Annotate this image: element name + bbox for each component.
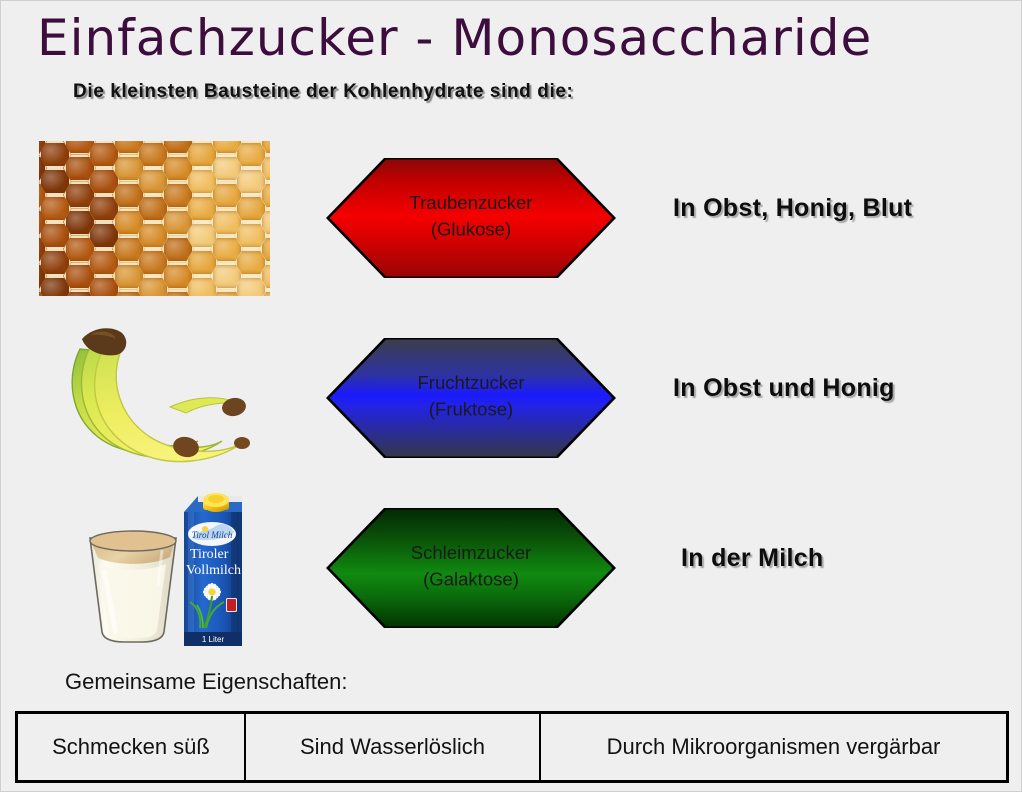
hexagon-fructose[interactable]: Fruchtzucker (Fruktose) xyxy=(326,338,616,458)
bananas-icon xyxy=(46,321,261,471)
side-label-galactose: In der Milch xyxy=(681,544,824,573)
page-title: Einfachzucker - Monosaccharide xyxy=(37,9,872,67)
hexagon-title-glucose: Traubenzucker xyxy=(410,194,533,214)
bananas-photo xyxy=(46,321,261,471)
carton-logo-text: Tirol Milch xyxy=(192,530,233,540)
hexagon-label-glucose: Traubenzucker (Glukose) xyxy=(410,192,533,245)
hexagon-glucose[interactable]: Traubenzucker (Glukose) xyxy=(326,158,616,278)
property-cell: Durch Mikroorganismen vergärbar xyxy=(541,714,1006,780)
milk-glass-and-carton-icon: Tirol Milch Tiroler Vollmilch xyxy=(66,486,256,651)
page-subtitle: Die kleinsten Bausteine der Kohlenhydrat… xyxy=(73,81,573,103)
property-cell: Schmecken süß xyxy=(18,714,246,780)
honeycomb-photo xyxy=(39,141,270,296)
properties-table: Schmecken süß Sind Wasserlöslich Durch M… xyxy=(15,711,1009,783)
hexagon-subtitle-glucose: (Glukose) xyxy=(410,218,533,244)
honeycomb-cells xyxy=(39,141,270,296)
carton-line1: Tiroler xyxy=(190,547,229,562)
properties-caption: Gemeinsame Eigenschaften: xyxy=(65,669,348,695)
hexagon-fill-blue: Fruchtzucker (Fruktose) xyxy=(330,340,613,457)
carton-volume: 1 Liter xyxy=(202,635,225,644)
carton-line2: Vollmilch xyxy=(186,563,241,578)
hexagon-galactose[interactable]: Schleimzucker (Galaktose) xyxy=(326,508,616,628)
hexagon-subtitle-fructose: (Fruktose) xyxy=(417,398,524,424)
hexagon-subtitle-galactose: (Galaktose) xyxy=(411,568,531,594)
hexagon-title-fructose: Fruchtzucker xyxy=(417,374,524,394)
hexagon-fill-green: Schleimzucker (Galaktose) xyxy=(330,510,613,627)
row-glucose: Traubenzucker (Glukose) In Obst, Honig, … xyxy=(1,136,1022,301)
hexagon-title-galactose: Schleimzucker xyxy=(411,544,531,564)
row-fructose: Fruchtzucker (Fruktose) In Obst und Honi… xyxy=(1,316,1022,481)
hexagon-label-galactose: Schleimzucker (Galaktose) xyxy=(411,542,531,595)
side-label-fructose: In Obst und Honig xyxy=(673,374,895,403)
slide-canvas: Einfachzucker - Monosaccharide Die klein… xyxy=(0,0,1022,792)
hexagon-fill-red: Traubenzucker (Glukose) xyxy=(330,160,613,277)
milk-photo: Tirol Milch Tiroler Vollmilch xyxy=(66,486,256,651)
hexagon-label-fructose: Fruchtzucker (Fruktose) xyxy=(417,372,524,425)
side-label-glucose: In Obst, Honig, Blut xyxy=(673,194,912,223)
property-cell: Sind Wasserlöslich xyxy=(246,714,541,780)
row-galactose: Tirol Milch Tiroler Vollmilch xyxy=(1,486,1022,651)
